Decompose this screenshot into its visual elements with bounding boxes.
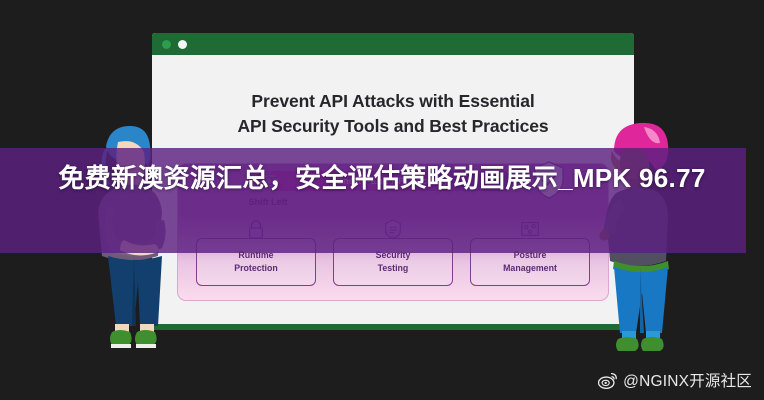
window-titlebar [152, 33, 634, 55]
watermark: @NGINX开源社区 [598, 369, 752, 391]
card-label-line-2: Testing [378, 262, 409, 275]
slide-title: Prevent API Attacks with Essential API S… [152, 89, 634, 139]
slide-title-line-1: Prevent API Attacks with Essential [152, 89, 634, 114]
watermark-handle: @NGINX开源社区 [623, 369, 752, 391]
window-footer [152, 324, 634, 330]
illustration-canvas: Prevent API Attacks with Essential API S… [0, 0, 764, 400]
slide-title-line-2: API Security Tools and Best Practices [152, 114, 634, 139]
weibo-icon [598, 372, 618, 389]
headline-text: 免费新澳资源汇总，安全评估策略动画展示_MPK 96.77 [0, 160, 764, 197]
white-dot-icon [178, 40, 187, 49]
card-label-line-2: Protection [234, 262, 278, 275]
card-label-line-2: Management [503, 262, 557, 275]
green-dot-icon [162, 40, 171, 49]
